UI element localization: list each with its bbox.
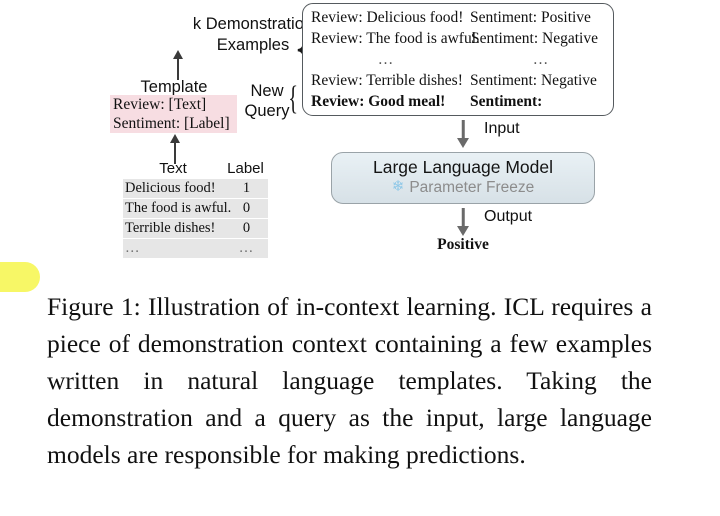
large-language-model-box: Large Language Model ❄ Parameter Freeze xyxy=(331,152,595,204)
curly-brace-query-icon: { xyxy=(288,82,298,116)
table-cell-text: … xyxy=(123,239,225,258)
table-cell-label: 1 xyxy=(225,179,268,198)
arrow-up-template-to-demonstrations-icon xyxy=(168,50,188,80)
parameter-freeze-row: ❄ Parameter Freeze xyxy=(332,178,594,197)
table-cell-label: … xyxy=(225,239,268,258)
table-cell-text: Delicious food! xyxy=(123,179,225,198)
new-query-label: New Query xyxy=(239,81,295,121)
table-cell-text: Terrible dishes! xyxy=(123,219,225,238)
arrow-down-output-icon xyxy=(452,208,474,236)
demo-row: Review: Terrible dishes! Sentiment: Nega… xyxy=(303,70,613,91)
demo-review: Review: Terrible dishes! xyxy=(303,70,470,91)
table-row: … … xyxy=(123,239,268,259)
figure-caption: Figure 1: Illustration of in-context lea… xyxy=(47,288,652,473)
query-row: Review: Good meal! Sentiment: xyxy=(303,91,613,112)
arrow-down-input-icon xyxy=(452,120,474,148)
new-query-line-2: Query xyxy=(239,101,295,121)
llm-title: Large Language Model xyxy=(332,156,594,178)
input-label: Input xyxy=(484,120,520,138)
demo-sentiment: Sentiment: Negative xyxy=(470,70,613,91)
demo-row-ellipsis: … … xyxy=(303,49,613,70)
highlighter-mark xyxy=(0,262,40,292)
template-box: Review: [Text] Sentiment: [Label] xyxy=(110,95,237,133)
prompt-context-box: Review: Delicious food! Sentiment: Posit… xyxy=(302,3,614,116)
template-sentiment-line: Sentiment: [Label] xyxy=(113,115,234,134)
demo-sentiment: Sentiment: Positive xyxy=(470,7,613,28)
figure-illustration: k Demonstration Examples Template Review… xyxy=(0,0,720,278)
snowflake-icon: ❄ xyxy=(392,180,405,195)
query-sentiment: Sentiment: xyxy=(470,91,613,112)
source-data-table: Text Label Delicious food! 1 The food is… xyxy=(123,160,268,259)
demo-sentiment: Sentiment: Negative xyxy=(471,28,613,49)
demo-sentiment: … xyxy=(470,49,613,70)
table-header-label: Label xyxy=(223,160,268,177)
table-cell-text: The food is awful. xyxy=(123,199,225,218)
demo-review: Review: The food is awful. xyxy=(303,28,471,49)
table-header-text: Text xyxy=(123,160,223,177)
demo-review: Review: Delicious food! xyxy=(303,7,470,28)
table-row: Terrible dishes! 0 xyxy=(123,219,268,239)
parameter-freeze-label: Parameter Freeze xyxy=(409,178,534,197)
demo-review: … xyxy=(303,49,470,70)
new-query-line-1: New xyxy=(239,81,295,101)
table-row: Delicious food! 1 xyxy=(123,179,268,199)
template-review-line: Review: [Text] xyxy=(113,96,234,115)
table-header-row: Text Label xyxy=(123,160,268,179)
prediction-label: Positive xyxy=(398,236,528,254)
output-label: Output xyxy=(484,208,532,226)
table-row: The food is awful. 0 xyxy=(123,199,268,219)
table-cell-label: 0 xyxy=(225,219,268,238)
query-review: Review: Good meal! xyxy=(303,91,470,112)
demo-row: Review: The food is awful. Sentiment: Ne… xyxy=(303,28,613,49)
demo-row: Review: Delicious food! Sentiment: Posit… xyxy=(303,7,613,28)
table-cell-label: 0 xyxy=(225,199,268,218)
